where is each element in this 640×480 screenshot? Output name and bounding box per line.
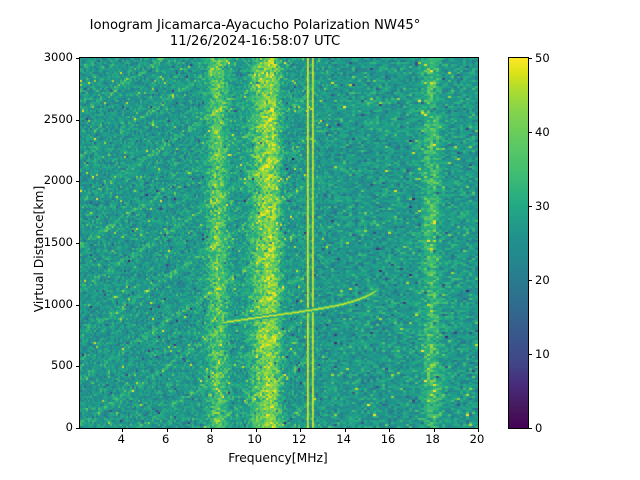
x-tick-label: 8 bbox=[207, 432, 214, 446]
x-tick-mark bbox=[122, 428, 123, 432]
x-tick-mark bbox=[167, 428, 168, 432]
ionogram-heatmap bbox=[80, 58, 478, 428]
colorbar-tick-label: 0 bbox=[535, 421, 542, 435]
x-tick-label: 12 bbox=[292, 432, 307, 446]
colorbar-tick-mark bbox=[528, 58, 532, 59]
y-tick-mark bbox=[76, 243, 80, 244]
y-tick-mark bbox=[76, 58, 80, 59]
y-tick-mark bbox=[76, 366, 80, 367]
colorbar-tick-label: 10 bbox=[535, 347, 550, 361]
figure-title: Ionogram Jicamarca-Ayacucho Polarization… bbox=[0, 18, 510, 50]
x-tick-label: 14 bbox=[336, 432, 351, 446]
y-tick-label: 2500 bbox=[44, 112, 73, 126]
colorbar-tick-label: 50 bbox=[535, 51, 550, 65]
colorbar-tick-label: 30 bbox=[535, 199, 550, 213]
y-tick-label: 500 bbox=[51, 358, 73, 372]
colorbar-tick-mark bbox=[528, 206, 532, 207]
x-tick-label: 10 bbox=[247, 432, 262, 446]
x-tick-mark bbox=[256, 428, 257, 432]
y-tick-label: 0 bbox=[66, 420, 73, 434]
x-tick-label: 20 bbox=[470, 432, 485, 446]
x-axis-label: Frequency[MHz] bbox=[79, 451, 477, 465]
y-tick-label: 2000 bbox=[44, 173, 73, 187]
colorbar-tick-mark bbox=[528, 428, 532, 429]
y-tick-mark bbox=[76, 305, 80, 306]
y-tick-label: 3000 bbox=[44, 50, 73, 64]
x-tick-labels: 468101214161820 bbox=[79, 432, 477, 450]
x-tick-mark bbox=[345, 428, 346, 432]
x-tick-label: 16 bbox=[381, 432, 396, 446]
colorbar-tick-mark bbox=[528, 132, 532, 133]
x-tick-mark bbox=[478, 428, 479, 432]
y-axis-label: Virtual Distance[km] bbox=[32, 64, 46, 434]
x-tick-mark bbox=[211, 428, 212, 432]
x-tick-label: 4 bbox=[118, 432, 125, 446]
colorbar-tick-mark bbox=[528, 354, 532, 355]
colorbar[interactable]: 01020304050 bbox=[508, 57, 529, 429]
y-tick-mark bbox=[76, 120, 80, 121]
colorbar-tick-mark bbox=[528, 280, 532, 281]
y-tick-label: 1000 bbox=[44, 297, 73, 311]
x-tick-mark bbox=[300, 428, 301, 432]
y-tick-label: 1500 bbox=[44, 235, 73, 249]
x-tick-label: 6 bbox=[162, 432, 169, 446]
plot-axes[interactable] bbox=[79, 57, 479, 429]
colorbar-tick-label: 20 bbox=[535, 273, 550, 287]
x-tick-mark bbox=[434, 428, 435, 432]
y-tick-mark bbox=[76, 428, 80, 429]
x-tick-mark bbox=[389, 428, 390, 432]
x-tick-label: 18 bbox=[425, 432, 440, 446]
y-tick-mark bbox=[76, 181, 80, 182]
y-tick-labels: 050010001500200025003000 bbox=[23, 57, 73, 427]
ionogram-figure: Ionogram Jicamarca-Ayacucho Polarization… bbox=[0, 0, 640, 480]
colorbar-tick-label: 40 bbox=[535, 125, 550, 139]
